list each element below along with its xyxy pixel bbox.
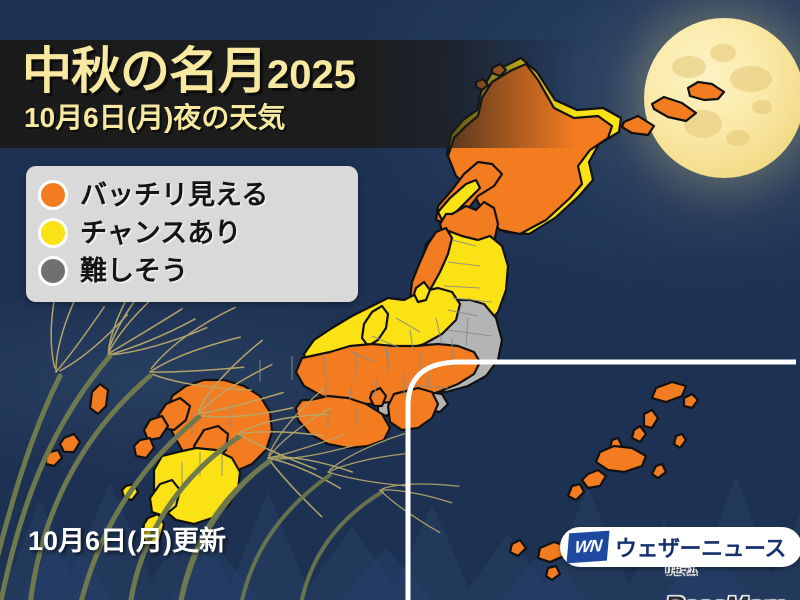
legend-label-difficult: 難しそう — [80, 258, 188, 285]
resemom-ruby-text: リセマム — [665, 567, 697, 576]
legend-panel: バッチリ見える チャンスあり 難しそう — [26, 166, 358, 302]
wn-badge-icon: WN — [567, 531, 610, 564]
title-year-text: 2025 — [267, 53, 356, 97]
legend-item-good: バッチリ見える — [38, 176, 346, 214]
wn-badge-text: WN — [574, 536, 602, 558]
weathernews-logo-text: ウェザーニュース — [615, 531, 786, 563]
page-title: 中秋の名月2025 — [22, 46, 356, 96]
orange-dot-icon — [38, 180, 68, 210]
resemom-watermark-text: ReseMom. — [665, 591, 792, 600]
legend-item-difficult: 難しそう — [38, 252, 346, 290]
legend-label-good: バッチリ見える — [80, 182, 268, 209]
legend-label-chance: チャンスあり — [80, 220, 241, 247]
updated-timestamp: 10月6日(月)更新 — [28, 528, 226, 555]
page-subtitle: 10月6日(月)夜の天気 — [24, 104, 285, 132]
legend-item-chance: チャンスあり — [38, 214, 346, 252]
gray-dot-icon — [38, 256, 68, 286]
resemom-watermark: リセマム ReseMom. — [665, 560, 792, 600]
moon-viewing-weather-infographic: 中秋の名月2025 10月6日(月)夜の天気 バッチリ見える チャンスあり 難し… — [0, 0, 800, 600]
yellow-dot-icon — [38, 218, 68, 248]
title-main-text: 中秋の名月 — [22, 43, 267, 99]
